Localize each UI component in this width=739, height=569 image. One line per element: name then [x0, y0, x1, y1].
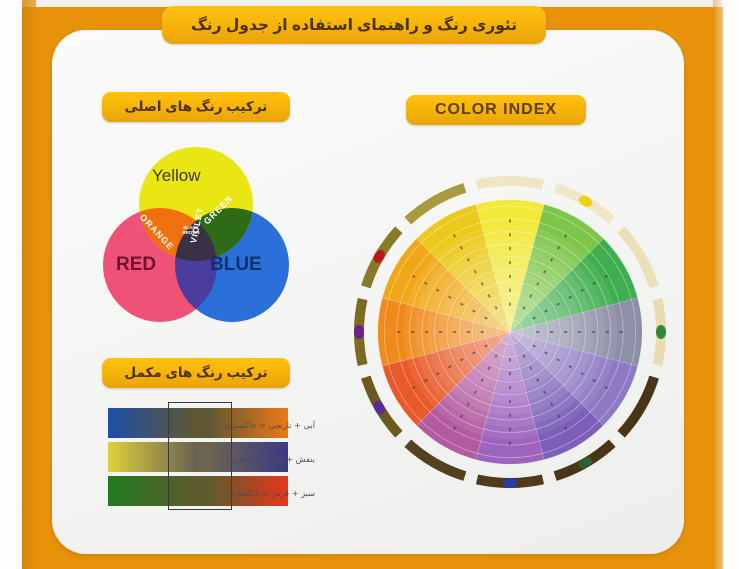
wheel-tick [592, 331, 595, 333]
wheel-tick [550, 331, 553, 333]
color-wheel [350, 150, 670, 516]
wheel-tick [509, 219, 511, 222]
wheel-tick [425, 331, 428, 333]
wheel-tick [397, 331, 400, 333]
wheel-ring-dot-3 [656, 325, 666, 339]
wheel-tick [509, 261, 511, 264]
wheel-tick [509, 303, 511, 306]
wheel-tick [467, 331, 470, 333]
wheel-tick [509, 428, 511, 431]
wheel-ring-dot-6 [503, 478, 517, 488]
wheel-tick [509, 442, 511, 445]
wheel-tick [509, 275, 511, 278]
wheel-tick [453, 331, 456, 333]
color-wheel-svg [350, 150, 670, 516]
wheel-tick [620, 331, 623, 333]
wheel-tick [509, 233, 511, 236]
venn-svg [98, 142, 294, 332]
primary-colors-title: ترکیب رنگ های اصلی [102, 92, 290, 122]
wheel-tick [536, 331, 539, 333]
wheel-tick [509, 386, 511, 389]
wheel-tick [509, 247, 511, 250]
wheel-ring-segment-0 [476, 176, 544, 190]
color-index-title: COLOR INDEX [406, 95, 586, 125]
comp-equation-0: آبی + نارنجی = خاکستری [205, 420, 315, 430]
comp-equation-1: بنفش + زرد = خاکستری [205, 454, 315, 464]
comp-equation-2: سبز + قرمز = خاکستری [205, 488, 315, 498]
wheel-tick [481, 331, 484, 333]
wheel-tick [411, 331, 414, 333]
complementary-colors-title: ترکیب رنگ های مکمل [102, 358, 290, 388]
left-edge-shadow [22, 0, 36, 569]
wheel-tick [509, 414, 511, 417]
right-white-gutter [723, 0, 739, 569]
left-white-gutter [0, 0, 22, 569]
wheel-ring-dot-9 [354, 325, 364, 339]
poster-title-pill: تئوری رنگ و راهنمای استفاده از جدول رنگ [162, 6, 546, 44]
wheel-tick [578, 331, 581, 333]
color-theory-poster: تئوری رنگ و راهنمای استفاده از جدول رنگ … [0, 0, 739, 569]
wheel-tick [509, 289, 511, 292]
wheel-tick [509, 372, 511, 375]
wheel-tick [509, 358, 511, 361]
wheel-tick [564, 331, 567, 333]
wheel-tick [509, 400, 511, 403]
wheel-tick [606, 331, 609, 333]
venn-diagram: Yellow RED BLUE ORANGE GREEN VIOLET BLAC… [98, 142, 294, 332]
right-edge-shadow [713, 0, 723, 569]
wheel-tick [439, 331, 442, 333]
